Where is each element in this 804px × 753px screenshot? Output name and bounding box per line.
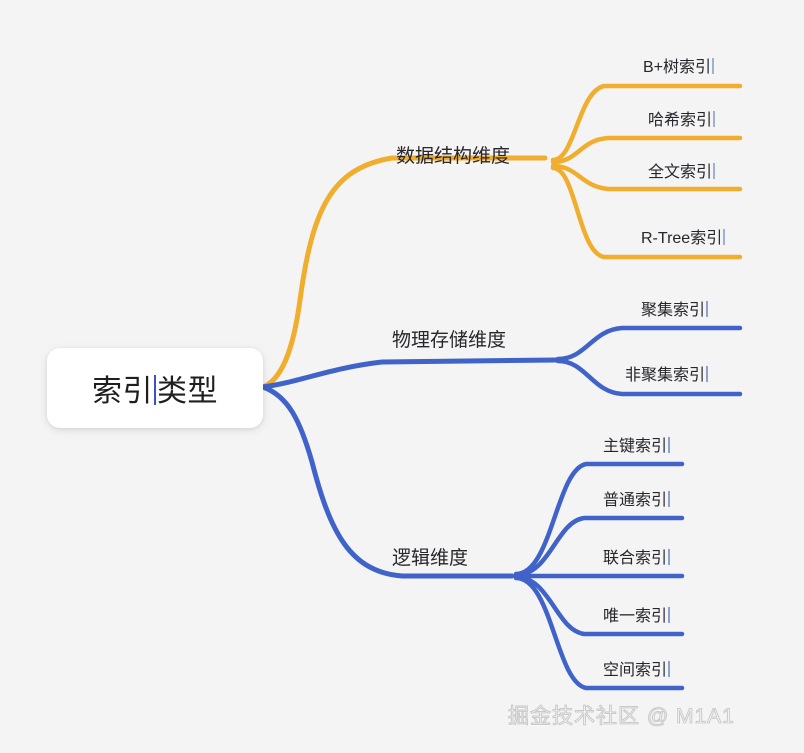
edge-root-to-physical-storage xyxy=(263,360,556,387)
text-caret xyxy=(712,58,714,74)
leaf-label-unique-index: 唯一索引 xyxy=(603,608,667,625)
leaf-node-unique-index[interactable]: 唯一索引 xyxy=(603,607,671,625)
text-caret xyxy=(723,229,725,245)
mindmap-canvas: 索引类型 数据结构维度 物理存储维度 逻辑维度 B+树索引 哈希索引 全文索引 … xyxy=(0,0,804,753)
leaf-node-fulltext-index[interactable]: 全文索引 xyxy=(648,163,716,181)
text-caret xyxy=(706,301,708,317)
leaf-label-btree-index: B+树索引 xyxy=(643,59,711,76)
leaf-node-composite-index[interactable]: 联合索引 xyxy=(603,549,671,567)
leaf-node-rtree-index[interactable]: R-Tree索引 xyxy=(641,229,726,247)
watermark-text: 掘金技术社区 @ M1A1 xyxy=(508,705,735,728)
text-caret xyxy=(713,111,715,127)
branch-node-logical[interactable]: 逻辑维度 xyxy=(392,549,468,568)
leaf-node-primary-key-index[interactable]: 主键索引 xyxy=(603,437,671,455)
leaf-label-fulltext-index: 全文索引 xyxy=(648,164,712,181)
text-caret xyxy=(668,661,670,677)
text-caret xyxy=(154,375,156,405)
leaf-node-nonclustered-index[interactable]: 非聚集索引 xyxy=(625,366,709,384)
text-caret xyxy=(668,607,670,623)
leaf-label-primary-key-index: 主键索引 xyxy=(603,438,667,455)
text-caret xyxy=(713,163,715,179)
branch-label-logical: 逻辑维度 xyxy=(392,548,468,569)
root-node-label: 索引类型 xyxy=(92,366,218,410)
leaf-node-hash-index[interactable]: 哈希索引 xyxy=(648,111,716,129)
edge-root-to-data-structure xyxy=(263,158,545,387)
branch-node-physical-storage[interactable]: 物理存储维度 xyxy=(392,331,506,350)
text-caret xyxy=(668,437,670,453)
edge-ds-to-hash xyxy=(553,138,740,162)
text-caret xyxy=(668,491,670,507)
edge-root-to-logical xyxy=(263,387,512,576)
leaf-node-btree-index[interactable]: B+树索引 xyxy=(643,58,715,76)
edge-ps-to-clustered xyxy=(558,328,740,359)
watermark: 掘金技术社区 @ M1A1 xyxy=(508,700,735,730)
leaf-label-normal-index: 普通索引 xyxy=(603,492,667,509)
leaf-label-rtree-index: R-Tree索引 xyxy=(641,230,722,247)
leaf-label-clustered-index: 聚集索引 xyxy=(641,302,705,319)
leaf-node-normal-index[interactable]: 普通索引 xyxy=(603,491,671,509)
branch-label-data-structure: 数据结构维度 xyxy=(396,146,510,167)
text-caret xyxy=(668,549,670,565)
leaf-node-spatial-index[interactable]: 空间索引 xyxy=(603,661,671,679)
leaf-label-hash-index: 哈希索引 xyxy=(648,112,712,129)
leaf-node-clustered-index[interactable]: 聚集索引 xyxy=(641,301,709,319)
leaf-label-nonclustered-index: 非聚集索引 xyxy=(625,367,705,384)
leaf-label-composite-index: 联合索引 xyxy=(603,550,667,567)
edge-logical-to-unique xyxy=(516,577,682,634)
branch-label-physical-storage: 物理存储维度 xyxy=(392,330,506,351)
root-node[interactable]: 索引类型 xyxy=(47,348,263,428)
text-caret xyxy=(706,366,708,382)
leaf-label-spatial-index: 空间索引 xyxy=(603,662,667,679)
branch-node-data-structure[interactable]: 数据结构维度 xyxy=(396,147,510,166)
